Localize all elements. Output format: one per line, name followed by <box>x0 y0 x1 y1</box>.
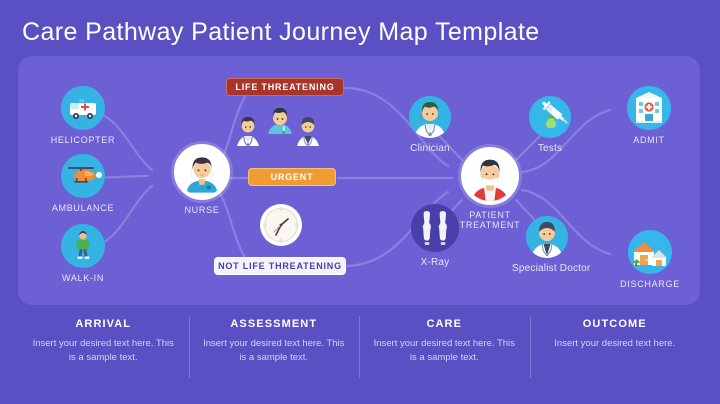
legend-body: Insert your desired text here. This is a… <box>28 337 179 365</box>
page-title: Care Pathway Patient Journey Map Templat… <box>22 18 540 47</box>
patient-avatar-icon <box>461 147 519 205</box>
badge-urgent[interactable]: URGENT <box>248 168 336 186</box>
badge-not-life-threatening[interactable]: NOT LIFE THREATENING <box>214 257 346 275</box>
node-discharge[interactable]: DISCHARGE <box>608 230 692 289</box>
legend-column-outcome: OUTCOME Insert your desired text here. <box>530 312 701 394</box>
node-label: ADMIT <box>612 135 686 145</box>
icon-medical-team <box>228 104 324 148</box>
node-admit[interactable]: ADMIT <box>612 86 686 145</box>
helicopter-icon <box>61 154 105 198</box>
walking-person-icon <box>61 224 105 268</box>
nurse-avatar-icon <box>174 144 230 200</box>
node-label: DISCHARGE <box>608 279 692 289</box>
node-ambulance[interactable]: AMBULANCE <box>38 154 128 213</box>
legend-column-assessment: ASSESSMENT Insert your desired text here… <box>189 312 360 394</box>
node-clinician[interactable]: Clinician <box>392 96 468 155</box>
legend-body: Insert your desired text here. This is a… <box>199 337 350 365</box>
medical-team-icon <box>228 104 324 148</box>
node-patient-treatment[interactable]: PATIENT TREATMENT <box>447 147 533 231</box>
phase-legend: ARRIVAL Insert your desired text here. T… <box>18 312 700 394</box>
legend-body: Insert your desired text here. <box>540 337 691 351</box>
clock-icon <box>260 204 302 246</box>
badge-life-threatening[interactable]: LIFE THREATENING <box>226 78 344 96</box>
legend-heading: ASSESSMENT <box>199 318 350 330</box>
legend-column-care: CARE Insert your desired text here. This… <box>359 312 530 394</box>
node-helicopter[interactable]: HELICOPTER <box>38 86 128 145</box>
node-nurse[interactable]: NURSE <box>152 144 252 215</box>
legend-body: Insert your desired text here. This is a… <box>369 337 520 365</box>
node-label: PATIENT TREATMENT <box>453 210 527 231</box>
node-label: X-Ray <box>398 257 472 269</box>
ambulance-icon <box>61 86 105 130</box>
node-label: AMBULANCE <box>38 203 128 213</box>
clinician-avatar-icon <box>409 96 451 138</box>
legend-heading: ARRIVAL <box>28 318 179 330</box>
legend-heading: OUTCOME <box>540 318 691 330</box>
node-walk-in[interactable]: WALK-IN <box>38 224 128 283</box>
icon-clock <box>258 204 304 246</box>
legend-heading: CARE <box>369 318 520 330</box>
node-label: NURSE <box>152 205 252 215</box>
legend-column-arrival: ARRIVAL Insert your desired text here. T… <box>18 312 189 394</box>
syringe-icon <box>529 96 571 138</box>
house-icon <box>628 230 672 274</box>
node-tests[interactable]: Tests <box>517 96 583 155</box>
node-label: HELICOPTER <box>38 135 128 145</box>
node-label: WALK-IN <box>38 273 128 283</box>
node-label: Specialist Doctor <box>512 263 582 275</box>
hospital-building-icon <box>627 86 671 130</box>
